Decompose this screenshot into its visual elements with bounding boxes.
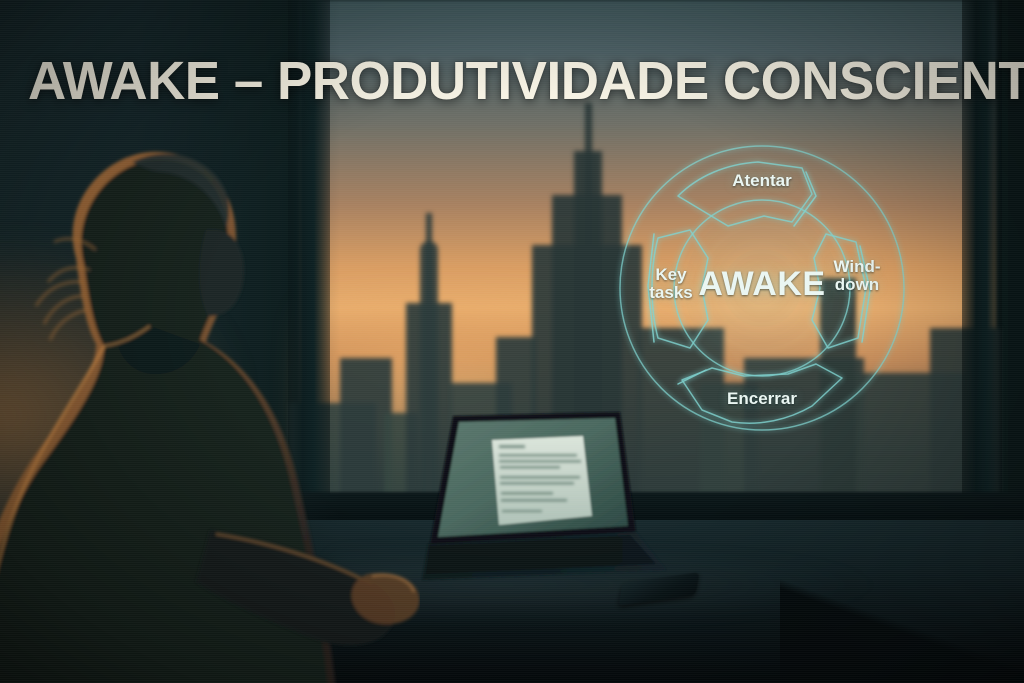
awake-cycle-diagram: Atentar Wind- down Encerrar Key tasks AW… (616, 138, 908, 438)
hero-scene: Atentar Wind- down Encerrar Key tasks AW… (0, 0, 1024, 683)
segment-label-atentar[interactable]: Atentar (702, 172, 822, 190)
page-title: AWAKE – PRODUTIVIDADE CONSCIENTE (28, 50, 1024, 112)
diagram-center-label: AWAKE (682, 266, 842, 303)
laptop-document-page (492, 436, 592, 525)
segment-label-encerrar[interactable]: Encerrar (698, 390, 826, 408)
person-silhouette (0, 130, 420, 683)
desk-corner-edge (780, 560, 1024, 683)
